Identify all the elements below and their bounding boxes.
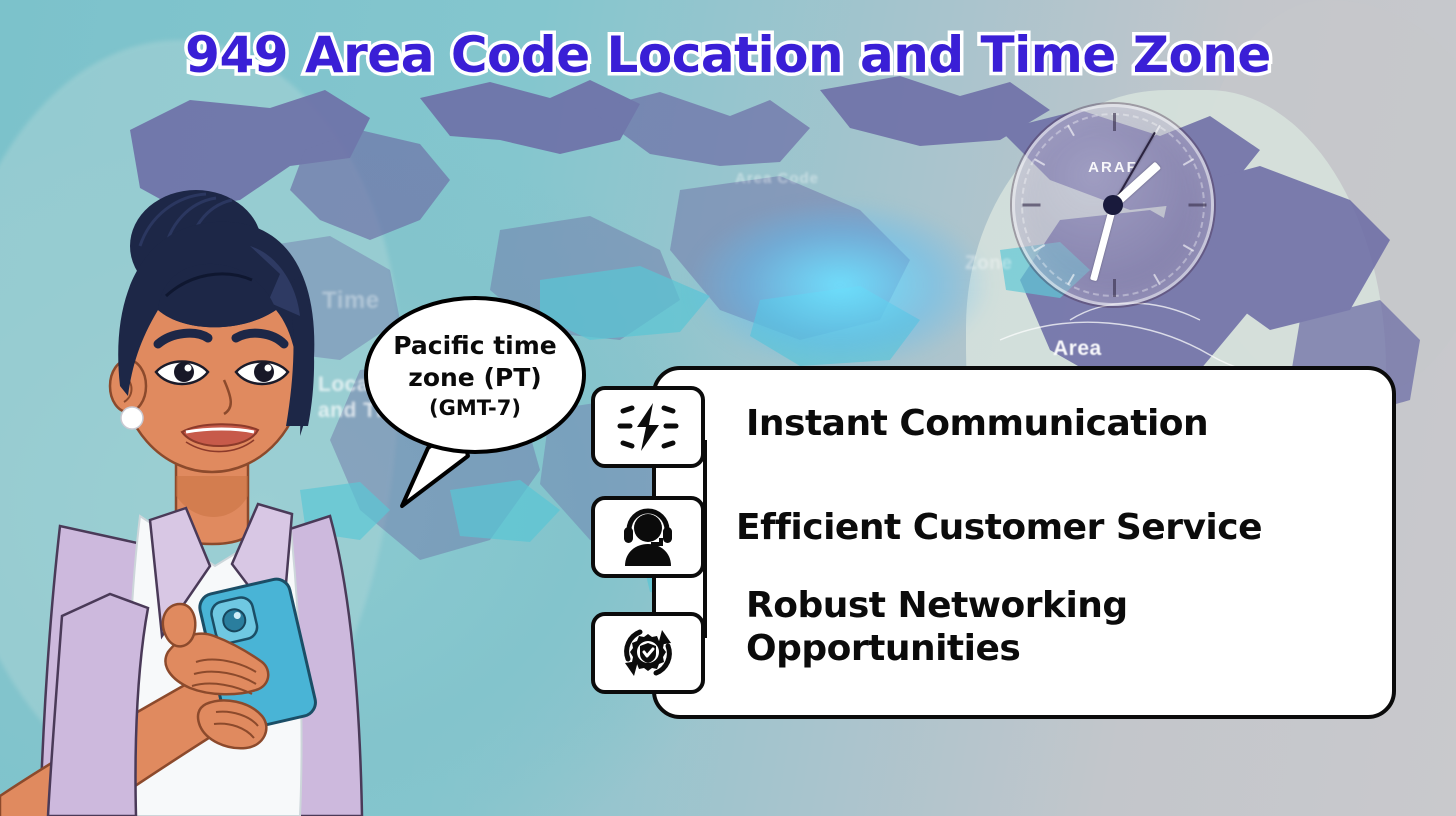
map-label-area: Area — [1053, 336, 1102, 362]
feature-label-3: Robust Networking Opportunities — [746, 584, 1128, 670]
map-watermark-zone: Zone — [965, 252, 1012, 276]
map-light-glow — [690, 200, 990, 370]
feature-icon-box-1[interactable] — [591, 386, 705, 468]
feature-icon-box-3[interactable] — [591, 612, 705, 694]
feature-icon-box-2[interactable] — [591, 496, 705, 578]
clock-tick — [1113, 113, 1116, 131]
analog-wall-clock: ARAF — [1012, 104, 1214, 306]
speech-bubble: Pacific time zone (PT) (GMT-7) — [364, 296, 586, 454]
clock-center-cap — [1103, 195, 1123, 215]
clock-tick — [1113, 279, 1116, 297]
lightning-bolt-icon — [615, 401, 681, 453]
clock-tick — [1023, 204, 1041, 207]
clock-tick — [1189, 204, 1207, 207]
gear-shield-refresh-icon — [618, 624, 678, 682]
feature-label-2: Efficient Customer Service — [736, 506, 1262, 549]
speech-bubble-sub-text: (GMT-7) — [429, 396, 521, 420]
feature-label-1: Instant Communication — [746, 402, 1208, 445]
headset-support-agent-icon — [617, 508, 679, 566]
woman-holding-smartphone-illustration — [0, 96, 440, 816]
map-watermark-areacode: Area Code — [735, 170, 819, 189]
poster-canvas: Time Area Code Zone Loca… and Ti… Area A… — [0, 0, 1456, 816]
page-title: 949 Area Code Location and Time Zone — [0, 26, 1456, 84]
speech-bubble-main-text: Pacific time zone (PT) — [382, 330, 568, 393]
